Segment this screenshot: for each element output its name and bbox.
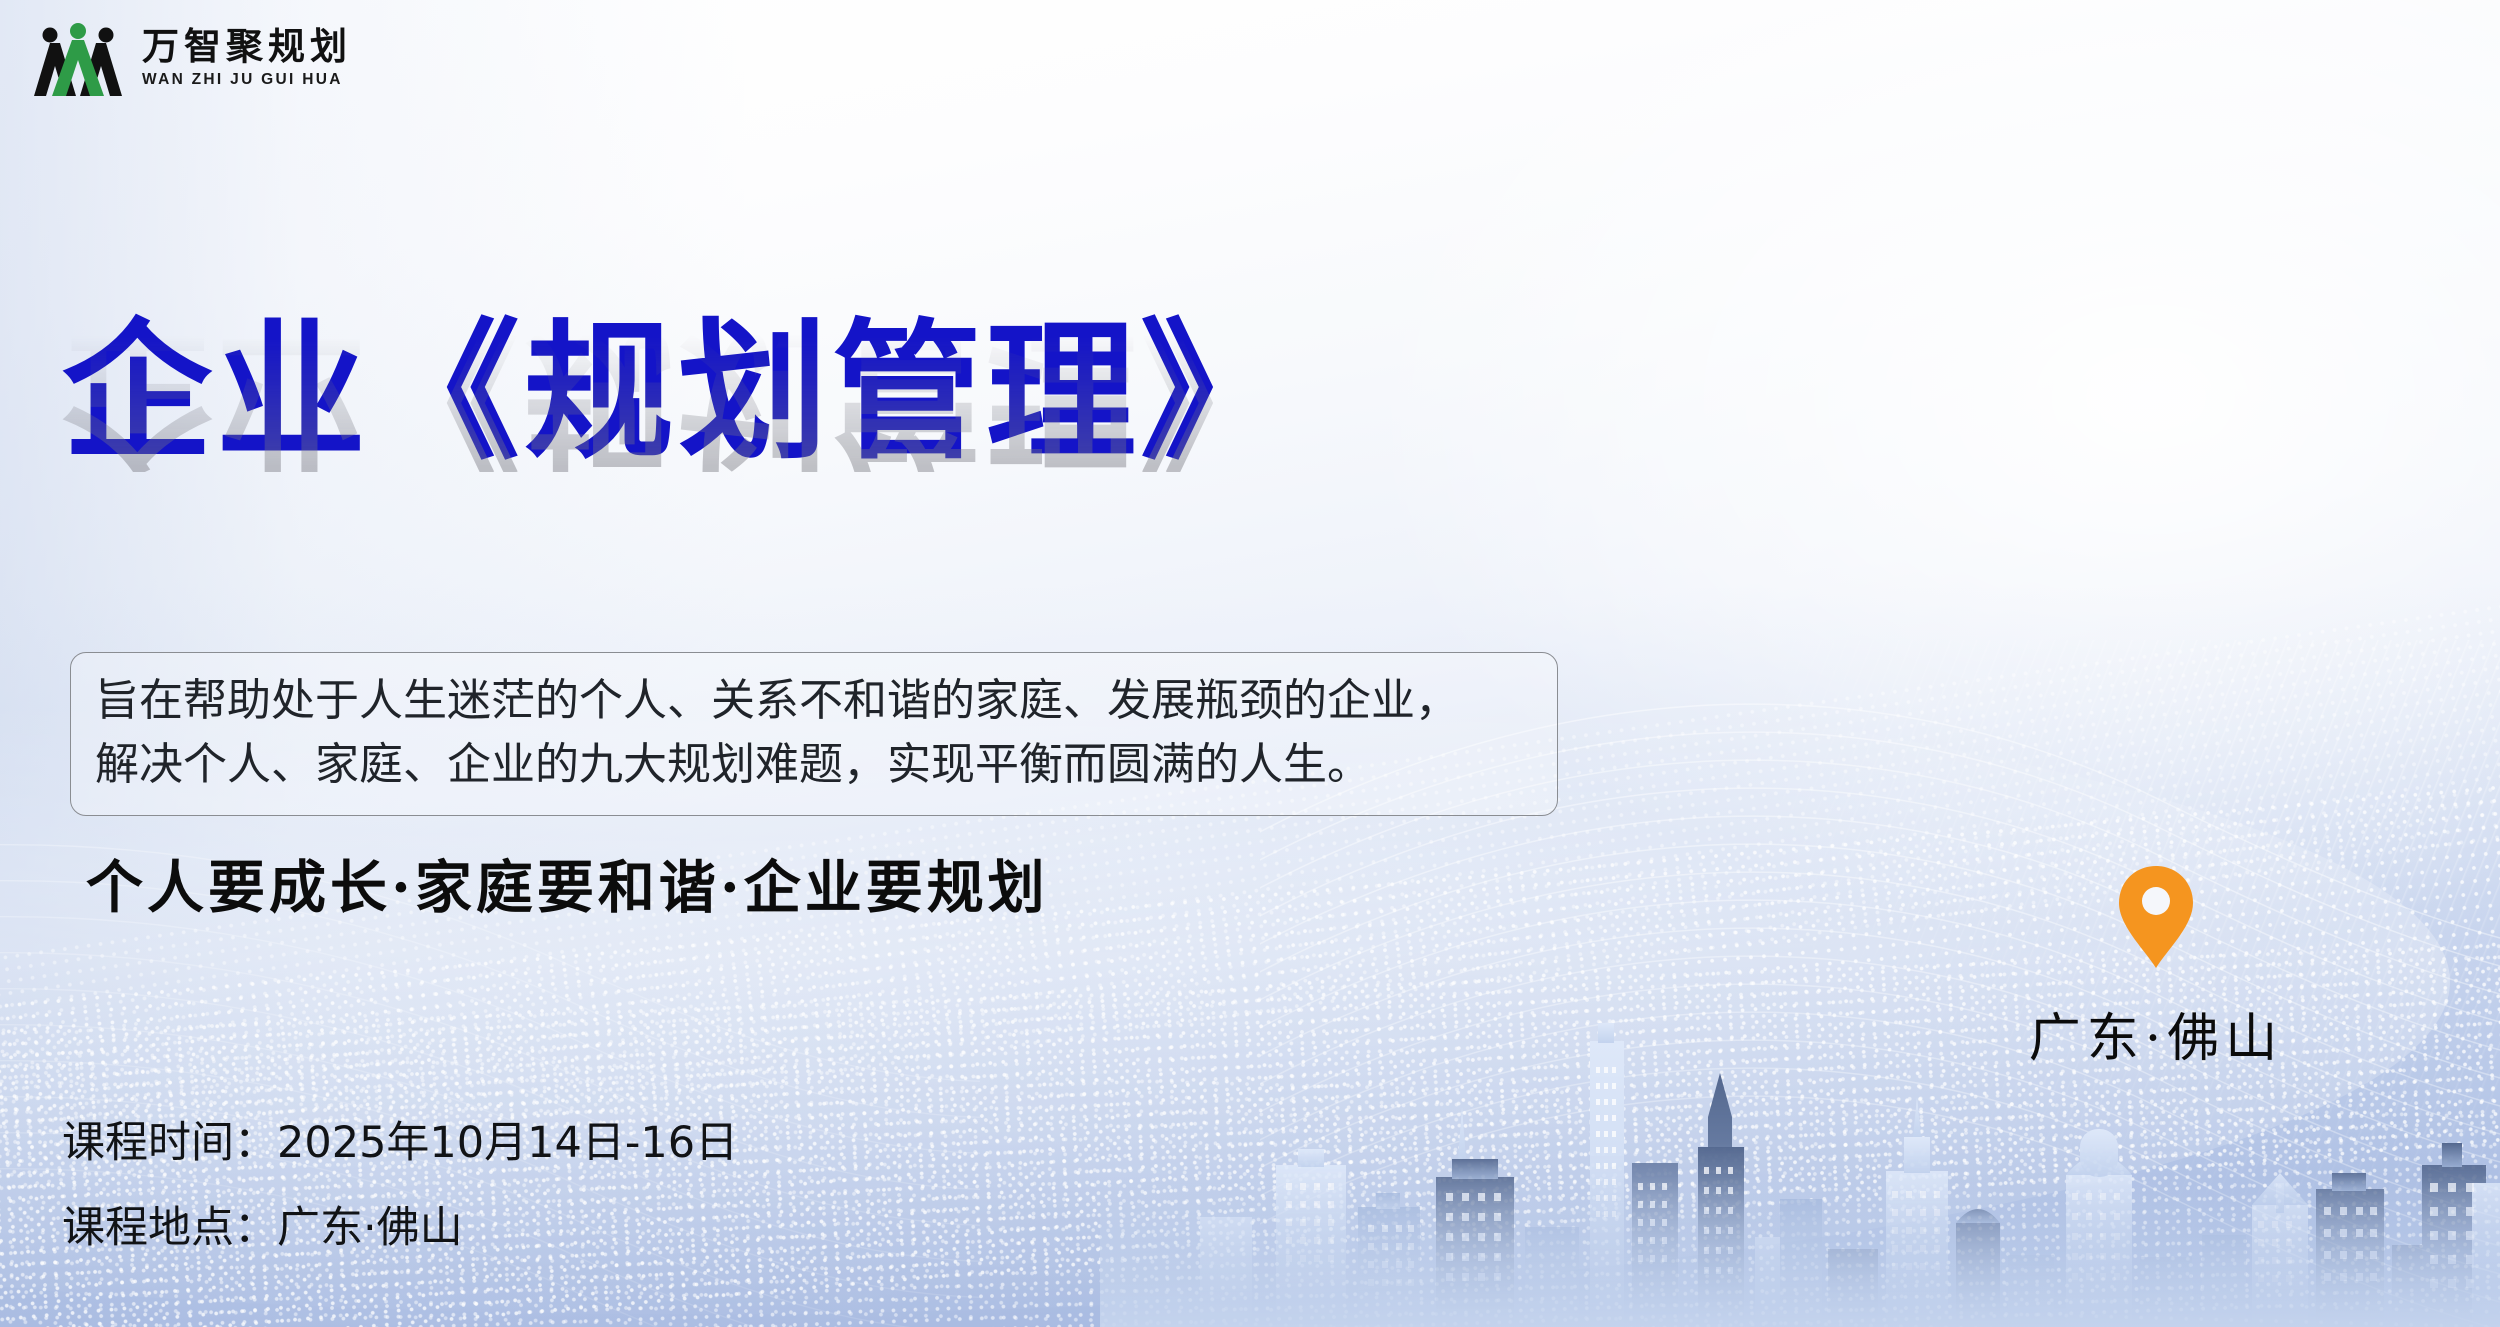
- description-box: 旨在帮助处于人生迷茫的个人、关系不和谐的家庭、发展瓶颈的企业， 解决个人、家庭、…: [70, 652, 1558, 816]
- course-location: 课程地点：广东·佛山: [62, 1207, 738, 1250]
- brand-name-en: WAN ZHI JU GUI HUA: [142, 72, 352, 88]
- location-label: 广东·佛山: [1946, 996, 2366, 1071]
- course-date: 课程时间：2025年10月14日-16日: [62, 1122, 738, 1165]
- brand-name-cn: 万智聚规划: [142, 28, 352, 65]
- main-title-block: 企业《规划管理》 企业《规划管理》: [62, 318, 1294, 622]
- page-title-reflection: 企业《规划管理》: [62, 322, 1294, 472]
- location-block: 广东·佛山: [1946, 862, 2366, 1071]
- brand-logo-text: 万智聚规划 WAN ZHI JU GUI HUA: [142, 28, 352, 88]
- course-info: 课程时间：2025年10月14日-16日 课程地点：广东·佛山: [62, 1122, 738, 1250]
- brand-logo[interactable]: 万智聚规划 WAN ZHI JU GUI HUA: [30, 20, 352, 96]
- tagline: 个人要成长·家庭要和谐·企业要规划: [86, 842, 1049, 924]
- description-line-1: 旨在帮助处于人生迷茫的个人、关系不和谐的家庭、发展瓶颈的企业，: [95, 669, 1533, 733]
- poster-canvas: 万智聚规划 WAN ZHI JU GUI HUA 企业《规划管理》 企业《规划管…: [0, 0, 2500, 1327]
- description-line-2: 解决个人、家庭、企业的九大规划难题，实现平衡而圆满的人生。: [95, 733, 1533, 797]
- map-pin-icon: [2115, 862, 2197, 972]
- three-people-logo-icon: [30, 20, 126, 96]
